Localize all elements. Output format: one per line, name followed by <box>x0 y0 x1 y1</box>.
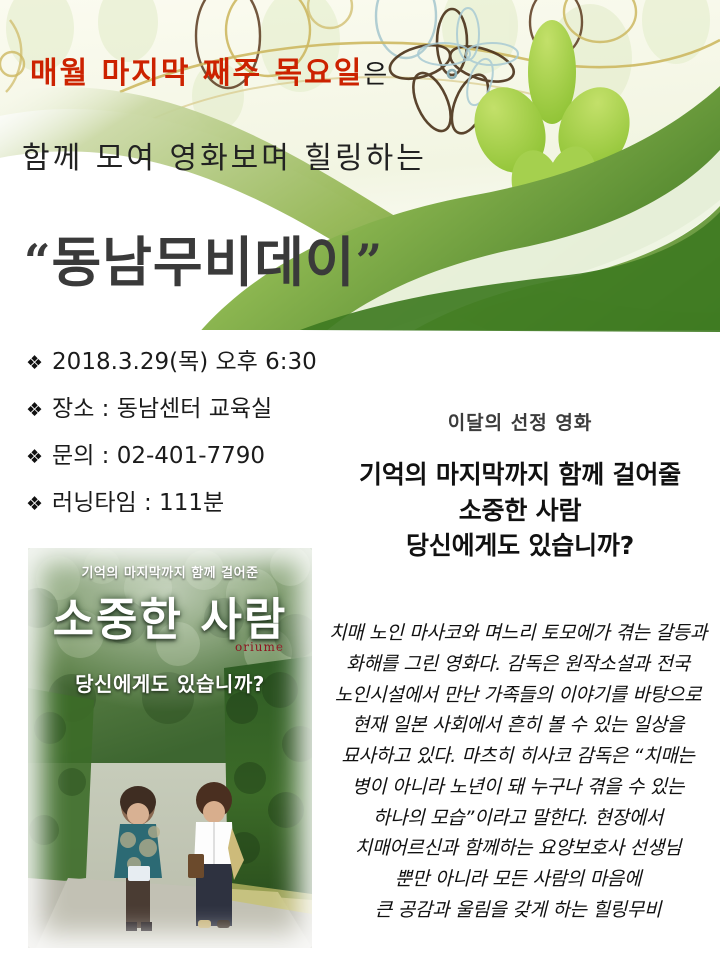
event-contact-phone: 문의 : 02-401-7790 <box>52 436 265 470</box>
synopsis-line: 뿐만 아니라 모든 사람의 마음에 <box>318 864 718 895</box>
headline-line-2: 소중한 사람 <box>325 493 715 529</box>
synopsis-line: 현재 일본 사회에서 흔히 볼 수 있는 일상을 <box>318 710 718 741</box>
poster-subtitle: 함께 모여 영화보며 힐링하는 <box>22 133 427 177</box>
quote-open-mark: “ <box>24 234 51 288</box>
event-location: 장소 : 동남센터 교육실 <box>52 389 272 423</box>
event-title-text: 동남무비데이 <box>51 230 355 294</box>
synopsis-line: 하나의 모습”이라고 말한다. 현장에서 <box>318 803 718 834</box>
movie-poster-image: 기억의 마지막까지 함께 걸어준 소중한 사람 oriume 당신에게도 있습니… <box>28 548 312 948</box>
featured-movie-block: 이달의 선정 영화 기억의 마지막까지 함께 걸어줄 소중한 사람 당신에게도 … <box>325 408 715 564</box>
synopsis-line: 치매 노인 마사코와 며느리 토모에가 겪는 갈등과 <box>318 618 718 649</box>
list-item: ❖ 2018.3.29(목) 오후 6:30 <box>26 342 356 376</box>
weekly-schedule-line: 매월 마지막 째주 목요일은 <box>30 48 389 92</box>
movie-synopsis: 치매 노인 마사코와 며느리 토모에가 겪는 갈등과 화해를 그린 영화다. 감… <box>318 618 718 926</box>
list-item: ❖ 문의 : 02-401-7790 <box>26 436 356 470</box>
synopsis-line: 큰 공감과 울림을 갖게 하는 힐링무비 <box>318 895 718 926</box>
movie-event-poster: 매월 마지막 째주 목요일은 함께 모여 영화보며 힐링하는 “동남무비데이” … <box>0 0 720 960</box>
movie-poster-tagline: 기억의 마지막까지 함께 걸어준 <box>28 562 312 581</box>
weekly-schedule-particle: 은 <box>363 60 389 90</box>
list-item: ❖ 장소 : 동남센터 교육실 <box>26 389 356 423</box>
event-running-time: 러닝타임 : 111분 <box>52 483 224 517</box>
diamond-bullet-icon: ❖ <box>26 401 43 420</box>
headline-line-1: 기억의 마지막까지 함께 걸어줄 <box>325 457 715 493</box>
weekly-schedule-red-text: 매월 마지막 째주 목요일 <box>30 56 363 91</box>
synopsis-line: 묘사하고 있다. 마츠히 히사코 감독은 “치매는 <box>318 741 718 772</box>
monthly-pick-label: 이달의 선정 영화 <box>325 408 715 435</box>
movie-poster-title: 소중한 사람 <box>28 583 312 648</box>
synopsis-line: 치매어르신과 함께하는 요양보호사 선생님 <box>318 833 718 864</box>
diamond-bullet-icon: ❖ <box>26 354 43 373</box>
header-text-block: 매월 마지막 째주 목요일은 함께 모여 영화보며 힐링하는 “동남무비데이” <box>0 0 720 330</box>
synopsis-line: 노인시설에서 만난 가족들의 이야기를 바탕으로 <box>318 680 718 711</box>
headline-line-3: 당신에게도 있습니까? <box>325 528 715 564</box>
diamond-bullet-icon: ❖ <box>26 448 43 467</box>
synopsis-line: 화해를 그린 영화다. 감독은 원작소설과 전국 <box>318 649 718 680</box>
diamond-bullet-icon: ❖ <box>26 495 43 514</box>
movie-poster-frame: 기억의 마지막까지 함께 걸어준 소중한 사람 oriume 당신에게도 있습니… <box>28 548 312 948</box>
page-title: “동남무비데이” <box>24 218 383 297</box>
quote-close-mark: ” <box>356 234 383 288</box>
movie-poster-question: 당신에게도 있습니까? <box>28 668 312 697</box>
synopsis-line: 병이 아니라 노년이 돼 누구나 겪을 수 있는 <box>318 772 718 803</box>
event-datetime: 2018.3.29(목) 오후 6:30 <box>52 342 317 376</box>
event-info-list: ❖ 2018.3.29(목) 오후 6:30 ❖ 장소 : 동남센터 교육실 ❖… <box>26 342 356 530</box>
movie-poster-romaji: oriume <box>235 640 284 654</box>
featured-movie-headline: 기억의 마지막까지 함께 걸어줄 소중한 사람 당신에게도 있습니까? <box>325 457 715 564</box>
list-item: ❖ 러닝타임 : 111분 <box>26 483 356 517</box>
